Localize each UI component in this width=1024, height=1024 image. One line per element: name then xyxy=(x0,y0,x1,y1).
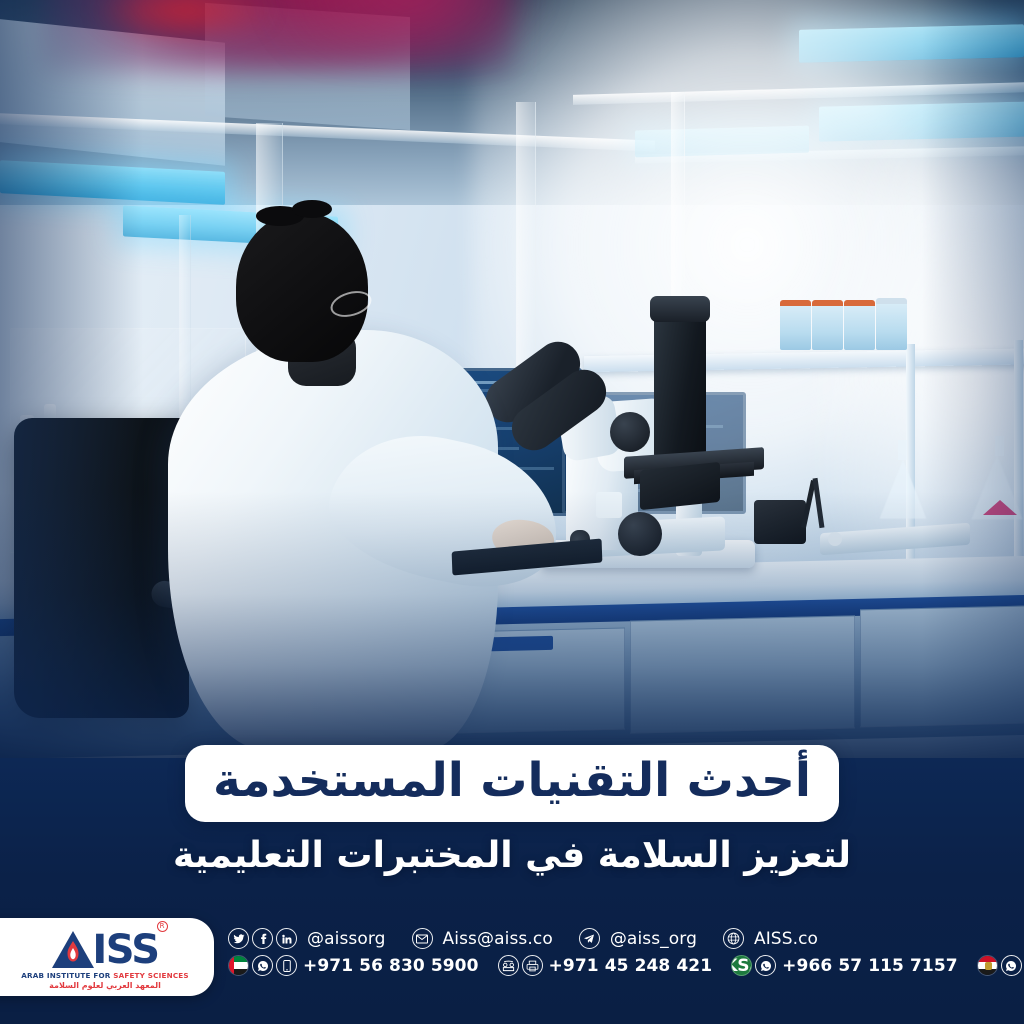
phone-number-text: +971 56 830 5900 xyxy=(303,956,479,976)
email-icon-group xyxy=(412,928,436,949)
egypt-flag-icon xyxy=(977,955,998,976)
contact-phone-uae-mobile[interactable]: +971 56 830 5900 xyxy=(228,955,479,976)
contact-row-phones: +971 56 830 5900 +971 45 248 421 KSA xyxy=(228,955,1018,976)
contact-email[interactable]: Aiss@aiss.co xyxy=(412,928,553,949)
contact-website[interactable]: AISS.co xyxy=(723,928,818,949)
envelope-icon[interactable] xyxy=(412,928,433,949)
subheadline-text: لتعزيز السلامة في المختبرات التعليمية xyxy=(0,833,1024,880)
contact-row-social: @aissorg Aiss@aiss.co @aiss_org xyxy=(228,928,1018,949)
contact-bar: @aissorg Aiss@aiss.co @aiss_org xyxy=(228,928,1018,982)
triangle-icon xyxy=(51,929,95,969)
telephone-icon[interactable] xyxy=(498,955,519,976)
logo-text: ISS xyxy=(92,932,158,969)
headline-pill: أحدث التقنيات المستخدمة xyxy=(185,745,839,822)
contact-social-handle[interactable]: @aissorg xyxy=(228,928,386,949)
ksa-flag-icon: KSA xyxy=(731,955,752,976)
whatsapp-icon[interactable] xyxy=(1001,955,1022,976)
twitter-icon[interactable] xyxy=(228,928,249,949)
logo-wordmark-row: ISS R xyxy=(51,925,158,969)
telegram-icon[interactable] xyxy=(579,928,600,949)
whatsapp-icon[interactable] xyxy=(755,955,776,976)
telegram-icon-group xyxy=(579,928,603,949)
headline-text: أحدث التقنيات المستخدمة xyxy=(213,753,811,808)
poster-canvas: أحدث التقنيات المستخدمة لتعزيز السلامة ف… xyxy=(0,0,1024,1024)
logo-tagline-ar: المعهد العربي لعلوم السلامة xyxy=(49,981,161,990)
landline-icon-group xyxy=(498,955,546,976)
contact-phone-egypt[interactable]: +201080055605 xyxy=(977,955,1024,976)
globe-icon[interactable] xyxy=(723,928,744,949)
uae-phone-icon-group xyxy=(228,955,300,976)
social-icon-group xyxy=(228,928,300,949)
mobile-icon[interactable] xyxy=(276,955,297,976)
telegram-handle-text: @aiss_org xyxy=(610,929,697,949)
social-handle-text: @aissorg xyxy=(307,929,386,949)
email-text: Aiss@aiss.co xyxy=(443,929,553,949)
fax-icon[interactable] xyxy=(522,955,543,976)
website-icon-group xyxy=(723,928,747,949)
facebook-icon[interactable] xyxy=(252,928,273,949)
contact-phone-ksa[interactable]: KSA +966 57 115 7157 xyxy=(731,955,958,976)
ksa-phone-icon-group: KSA xyxy=(731,955,779,976)
whatsapp-icon[interactable] xyxy=(252,955,273,976)
phone-number-text: +971 45 248 421 xyxy=(549,956,713,976)
headline-block: أحدث التقنيات المستخدمة xyxy=(0,745,1024,822)
website-text: AISS.co xyxy=(754,929,818,949)
phone-number-text: +966 57 115 7157 xyxy=(782,956,958,976)
registered-mark-icon: R xyxy=(157,921,168,932)
linkedin-icon[interactable] xyxy=(276,928,297,949)
contact-telegram[interactable]: @aiss_org xyxy=(579,928,697,949)
egypt-phone-icon-group xyxy=(977,955,1024,976)
aiss-logo[interactable]: ISS R ARAB INSTITUTE FOR SAFETY SCIENCES… xyxy=(0,918,214,996)
contact-phone-uae-landline[interactable]: +971 45 248 421 xyxy=(498,955,713,976)
uae-flag-icon xyxy=(228,955,249,976)
